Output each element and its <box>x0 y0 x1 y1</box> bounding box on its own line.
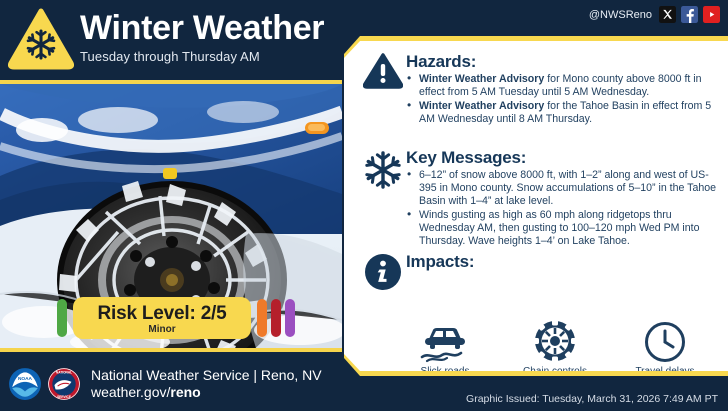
section-impacts: Impacts: <box>360 251 722 291</box>
graphic-issued-timestamp: Graphic Issued: Tuesday, March 31, 2026 … <box>466 393 718 405</box>
list-item: Winter Weather Advisory for the Tahoe Ba… <box>406 100 722 126</box>
risk-level-active: Risk Level: 2/5 Minor <box>73 297 251 339</box>
hazard-bold-1: Winter Weather Advisory <box>419 100 544 112</box>
winter-weather-graphic: Winter Weather Tuesday through Thursday … <box>0 0 728 411</box>
social-handle: @NWSReno <box>589 9 652 21</box>
footer-text: National Weather Service | Reno, NV weat… <box>91 367 322 401</box>
footer: NOAA NATIONAL SERVICE National Weather S… <box>0 356 400 411</box>
risk-pill-green <box>57 299 67 337</box>
info-panel-inner: Hazards: Winter Weather Advisory for Mon… <box>344 41 728 371</box>
facebook-icon[interactable] <box>681 6 698 23</box>
list-item: 6–12” of snow above 8000 ft, with 1–2” a… <box>406 169 722 208</box>
impact-label: Slick roads <box>393 366 497 378</box>
page-subtitle: Tuesday through Thursday AM <box>80 49 324 65</box>
key-messages-heading: Key Messages: <box>406 147 722 168</box>
impact-slick-roads: Slick roads <box>393 319 497 378</box>
hazards-heading: Hazards: <box>406 51 722 72</box>
website-office: reno <box>170 384 200 400</box>
list-item: Winter Weather Advisory for Mono county … <box>406 73 722 99</box>
snowflake-warning-triangle-icon <box>8 8 74 70</box>
risk-level-bar: Risk Level: 2/5 Minor <box>57 297 295 339</box>
impacts-body: Impacts: <box>406 251 722 291</box>
nws-logo: NATIONAL SERVICE <box>47 367 81 401</box>
agency-logos: NOAA NATIONAL SERVICE <box>8 367 81 401</box>
clock-icon <box>613 319 717 363</box>
agency-name: National Weather Service | Reno, NV <box>91 367 322 384</box>
svg-text:SERVICE: SERVICE <box>57 394 71 398</box>
title-block: Winter Weather Tuesday through Thursday … <box>80 8 324 65</box>
impact-label: Travel delays <box>613 366 717 378</box>
impacts-icon-row: Slick roads <box>390 319 720 378</box>
hazard-bold-0: Winter Weather Advisory <box>419 73 544 85</box>
hazards-body: Hazards: Winter Weather Advisory for Mon… <box>406 51 722 127</box>
section-hazards: Hazards: Winter Weather Advisory for Mon… <box>360 51 722 127</box>
social-links: @NWSReno <box>589 6 720 23</box>
impact-chain-controls: Chain controls <box>503 319 607 378</box>
impacts-heading: Impacts: <box>406 251 722 272</box>
x-twitter-icon[interactable] <box>659 6 676 23</box>
key-messages-list: 6–12” of snow above 8000 ft, with 1–2” a… <box>406 169 722 247</box>
risk-level-label: Minor <box>148 324 175 336</box>
tire-chain-icon <box>503 319 607 363</box>
page-title: Winter Weather <box>80 8 324 48</box>
agency-website[interactable]: weather.gov/reno <box>91 384 322 401</box>
risk-pill-red <box>271 299 281 337</box>
risk-pill-purple <box>285 299 295 337</box>
svg-text:NOAA: NOAA <box>18 375 33 381</box>
keymsg-rest-0: 6–12” of snow above 8000 ft, with 1–2” a… <box>419 169 716 207</box>
impact-travel-delays: Travel delays <box>613 319 717 378</box>
noaa-logo: NOAA <box>8 367 42 401</box>
warning-exclamation-icon <box>360 51 406 127</box>
risk-pill-orange <box>257 299 267 337</box>
list-item: Winds gusting as high as 60 mph along ri… <box>406 209 722 248</box>
svg-text:NATIONAL: NATIONAL <box>56 370 72 374</box>
info-circle-icon <box>360 251 406 291</box>
info-panel: Hazards: Winter Weather Advisory for Mon… <box>344 36 728 376</box>
hazards-list: Winter Weather Advisory for Mono county … <box>406 73 722 126</box>
youtube-icon[interactable] <box>703 6 720 23</box>
slick-road-car-icon <box>393 319 497 363</box>
risk-level-title: Risk Level: 2/5 <box>97 303 226 324</box>
key-messages-body: Key Messages: 6–12” of snow above 8000 f… <box>406 147 722 248</box>
website-prefix: weather.gov/ <box>91 384 170 400</box>
snowflake-icon <box>360 147 406 248</box>
keymsg-rest-1: Winds gusting as high as 60 mph along ri… <box>419 209 700 247</box>
impact-label: Chain controls <box>503 366 607 378</box>
section-key-messages: Key Messages: 6–12” of snow above 8000 f… <box>360 147 722 248</box>
